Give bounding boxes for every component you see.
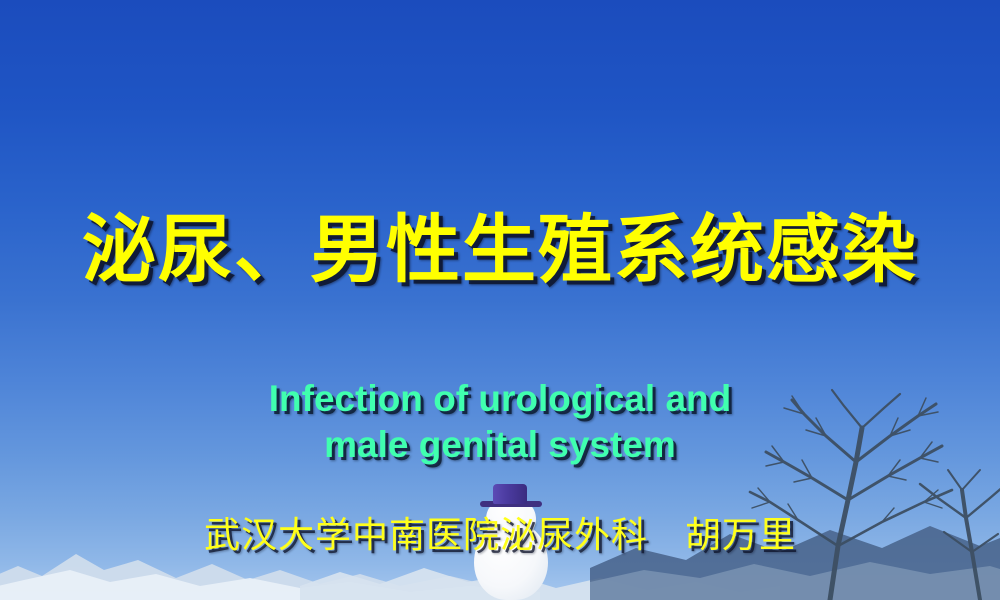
subtitle-line-2: male genital system bbox=[0, 422, 1000, 468]
presentation-slide: 泌尿、男性生殖系统感染 Infection of urological and … bbox=[0, 0, 1000, 600]
slide-text-layer: 泌尿、男性生殖系统感染 Infection of urological and … bbox=[0, 0, 1000, 600]
page-title: 泌尿、男性生殖系统感染 bbox=[0, 213, 1000, 287]
subtitle-line-1: Infection of urological and bbox=[0, 376, 1000, 422]
slide-subtitle: Infection of urological and male genital… bbox=[0, 376, 1000, 468]
author-affiliation-line: 武汉大学中南医院泌尿外科 胡万里 bbox=[0, 516, 1000, 556]
